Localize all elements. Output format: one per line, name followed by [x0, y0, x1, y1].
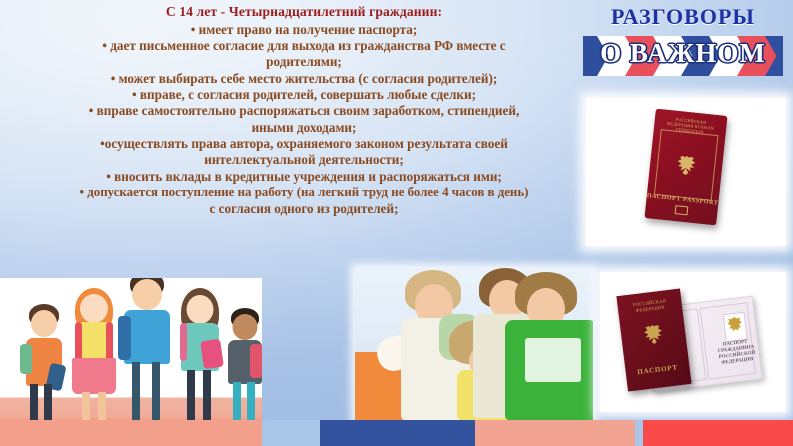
backpack [250, 344, 262, 378]
laughing-children-photo [355, 268, 593, 420]
backpack-strap-right [106, 322, 113, 362]
passport-cover-label: ПАСПОРТ [625, 362, 689, 378]
bottom-bar-block [320, 420, 475, 446]
internal-passport-photo: ПАСПОРТ ГРАЖДАНИНА РОССИЙСКОЙ ФЕДЕРАЦИИ … [600, 272, 786, 412]
bullet-line-4: • может выбирать себе место жительства (… [6, 70, 602, 86]
head [187, 295, 214, 324]
logo-line-2: О ВАЖНОМ [579, 38, 787, 69]
student-figure [172, 288, 228, 422]
leg-left [233, 382, 241, 422]
backpack [20, 344, 32, 374]
student-figure [18, 302, 70, 422]
leg-left [132, 362, 140, 422]
bottom-bar-block [475, 420, 635, 446]
passport-page-label: ПАСПОРТ ГРАЖДАНИНА РОССИЙСКОЙ ФЕДЕРАЦИИ [717, 339, 756, 367]
leg-right [247, 382, 255, 422]
slide-canvas: С 14 лет - Четырнадцатилетний гражданин:… [0, 0, 793, 446]
passport-book: РОССИЙСКАЯ ФЕДЕРАЦИЯ RUSSIAN FEDERATION … [644, 109, 727, 226]
double-eagle-emblem-icon [641, 321, 666, 352]
bullet-line-7: иными доходами; [6, 119, 602, 135]
bullet-line-12: с согласия одного из родителей; [6, 200, 602, 216]
leg-left [82, 392, 90, 422]
leg-right [203, 370, 211, 422]
backpack-strap [180, 323, 187, 361]
logo-line-1: РАЗГОВОРЫ [579, 4, 787, 30]
bullet-line-9: интеллектуальной деятельности; [6, 151, 602, 167]
leg-left [187, 370, 195, 422]
razgovory-o-vazhnom-logo: РАЗГОВОРЫ О ВАЖНОМ [579, 4, 787, 80]
bullet-line-11: • допускается поступление на работу (на … [6, 184, 602, 200]
bullet-line-2: • дает письменное согласие для выхода из… [6, 37, 602, 53]
head [233, 314, 258, 340]
leg-right [44, 384, 52, 424]
notebooks [200, 339, 224, 370]
head [132, 279, 162, 310]
passport-cover: РОССИЙСКАЯ ФЕДЕРАЦИЯ ПАСПОРТ [616, 288, 691, 391]
passport-cover-top-text: РОССИЙСКАЯ ФЕДЕРАЦИЯ [623, 297, 676, 314]
coat-of-arms-icon [723, 312, 748, 342]
leg-right [152, 362, 160, 422]
skirt [72, 358, 116, 394]
bottom-color-bar [0, 420, 793, 446]
foreign-passport-photo: РОССИЙСКАЯ ФЕДЕРАЦИЯ RUSSIAN FEDERATION … [586, 98, 786, 246]
student-figure [66, 288, 122, 422]
student-figure [116, 278, 178, 422]
student-figure [222, 306, 262, 422]
bottom-bar-block [643, 420, 793, 446]
head [80, 294, 108, 323]
bullet-line-8: •осуществлять права автора, охраняемого … [6, 135, 602, 151]
page-title: С 14 лет - Четырнадцатилетний гражданин: [6, 4, 602, 20]
bullet-line-5: • вправе, с согласия родителей, совершат… [6, 86, 602, 102]
bullet-line-3: родителями; [6, 53, 602, 69]
bottom-bar-block [0, 420, 262, 446]
shirt-print [525, 338, 581, 382]
bottom-bar-block [262, 420, 320, 446]
bullet-line-10: • вносить вклады в кредитные учреждения … [6, 168, 602, 184]
leg-left [30, 384, 38, 424]
backpack [118, 316, 131, 360]
backpack-strap-left [75, 322, 82, 362]
bullet-line-1: • имеет право на получение паспорта; [6, 21, 602, 37]
leg-right [98, 392, 106, 422]
child-figure [505, 272, 593, 420]
biometric-chip-icon [675, 205, 689, 215]
bottom-bar-block [635, 420, 643, 446]
double-eagle-emblem-icon [672, 151, 701, 180]
head [31, 310, 57, 337]
bullet-line-6: • вправе самостоятельно распоряжаться св… [6, 102, 602, 118]
slide-text-block: С 14 лет - Четырнадцатилетний гражданин:… [6, 4, 602, 216]
